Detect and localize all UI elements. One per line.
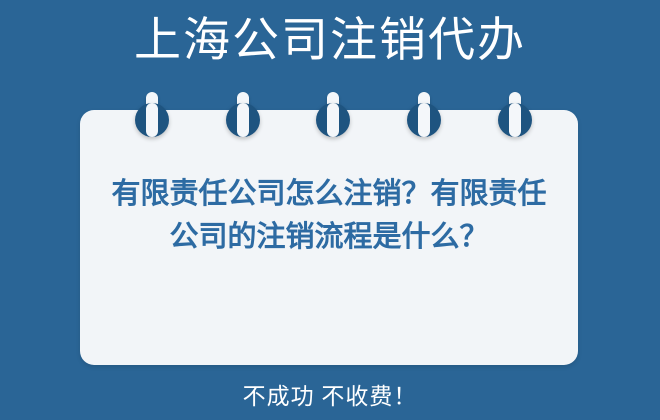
promo-banner: 上海公司注销代办 有限责任公司怎么注销？有限责任公司的注销流程是什么？ 不成功 … (0, 0, 660, 420)
footer-slogan: 不成功 不收费！ (0, 382, 660, 412)
binder-ring-2 (220, 92, 266, 148)
binder-ring-5 (492, 92, 538, 148)
note-card: 有限责任公司怎么注销？有限责任公司的注销流程是什么？ (80, 110, 578, 365)
binder-ring-hole-icon (237, 103, 249, 137)
binder-ring-3 (310, 92, 356, 148)
binder-ring-hole-icon (418, 103, 430, 137)
binder-ring-4 (401, 92, 447, 148)
binder-ring-hole-icon (146, 103, 158, 137)
binder-ring-hole-icon (509, 103, 521, 137)
binder-ring-hole-icon (327, 103, 339, 137)
binder-ring-1 (129, 92, 175, 148)
page-title: 上海公司注销代办 (0, 10, 660, 72)
headline-text: 有限责任公司怎么注销？有限责任公司的注销流程是什么？ (106, 172, 552, 258)
